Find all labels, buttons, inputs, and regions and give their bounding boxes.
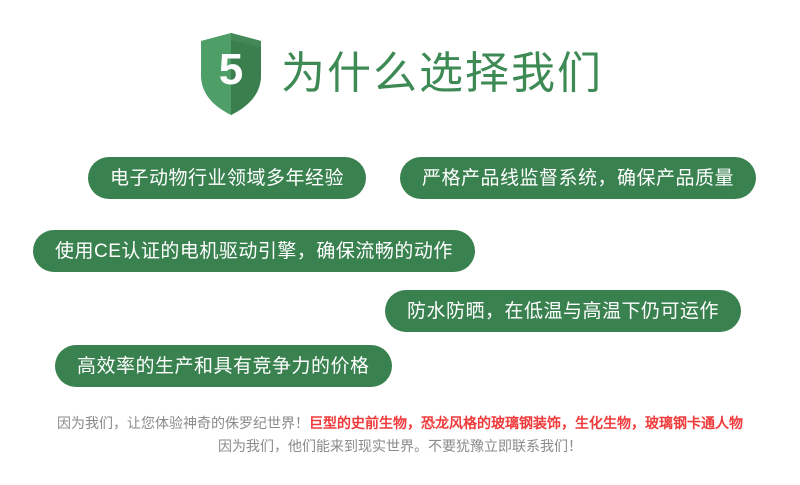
footer-line-2: 因为我们，他们能来到现实世界。不要犹豫立即联系我们！	[0, 435, 800, 458]
shield-badge: 5	[197, 31, 265, 117]
footer-paragraph: 因为我们，让您体验神奇的侏罗纪世界！巨型的史前生物，恐龙风格的玻璃钢装饰，生化生…	[0, 412, 800, 458]
badge-number: 5	[197, 31, 265, 117]
feature-pill: 高效率的生产和具有竞争力的价格	[55, 345, 392, 387]
footer-line-1: 因为我们，让您体验神奇的侏罗纪世界！巨型的史前生物，恐龙风格的玻璃钢装饰，生化生…	[0, 412, 800, 435]
page-title: 为什么选择我们	[281, 52, 603, 96]
footer-line-1-highlight: 巨型的史前生物，恐龙风格的玻璃钢装饰，生化生物，玻璃钢卡通人物	[309, 415, 743, 431]
feature-pill: 电子动物行业领域多年经验	[88, 157, 366, 199]
promo-banner: 5 为什么选择我们 电子动物行业领域多年经验 严格产品线监督系统，确保产品质量 …	[0, 0, 800, 485]
feature-pill: 严格产品线监督系统，确保产品质量	[400, 157, 756, 199]
feature-pill: 防水防晒，在低温与高温下仍可运作	[385, 290, 741, 332]
header: 5 为什么选择我们	[0, 24, 800, 124]
feature-pill-group: 电子动物行业领域多年经验 严格产品线监督系统，确保产品质量 使用CE认证的电机驱…	[0, 140, 800, 395]
feature-pill: 使用CE认证的电机驱动引擎，确保流畅的动作	[33, 230, 475, 272]
footer-line-1-prefix: 因为我们，让您体验神奇的侏罗纪世界！	[57, 415, 309, 431]
